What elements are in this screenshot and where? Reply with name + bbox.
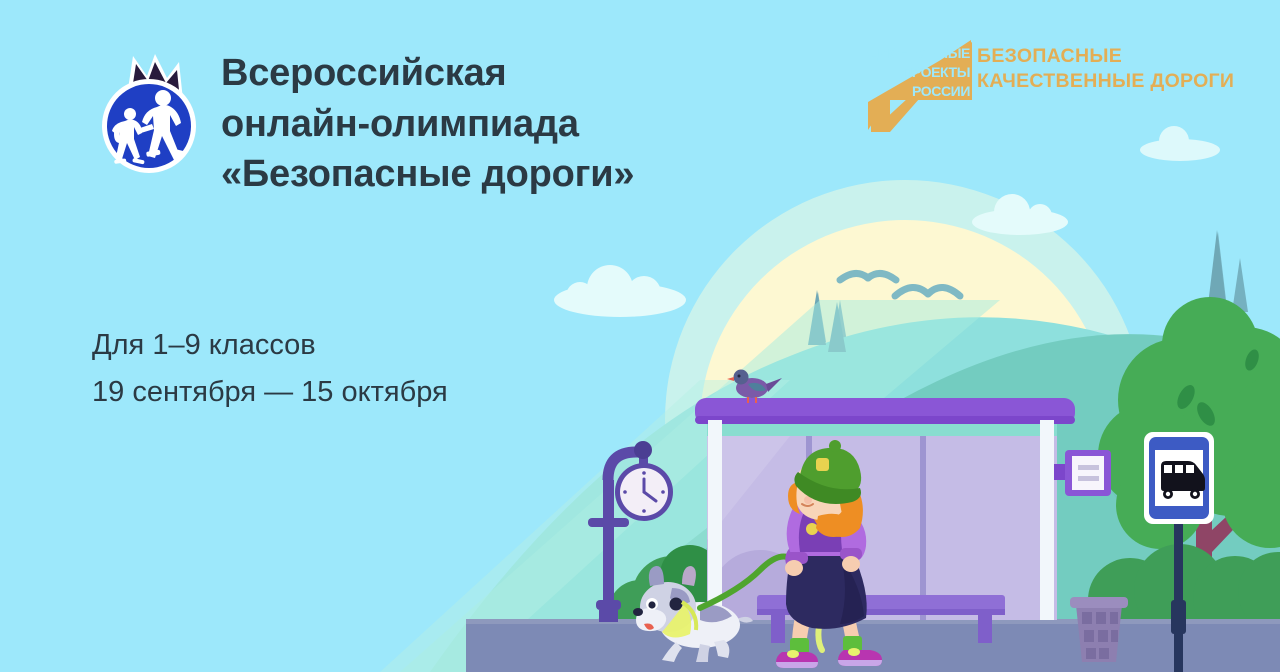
clock-finial xyxy=(634,441,652,459)
clock-pole-base xyxy=(599,610,618,622)
girl-hat-pom xyxy=(829,440,841,452)
event-details: Для 1–9 классов 19 сентября — 15 октября xyxy=(92,322,448,416)
girl-hand-front xyxy=(842,556,860,572)
girl-button xyxy=(806,523,818,535)
project-name: БЕЗОПАСНЫЕ КАЧЕСТВЕННЫЕ ДОРОГИ xyxy=(977,44,1234,94)
title-line-2: онлайн-олимпиада xyxy=(221,99,781,150)
bus-shelter xyxy=(695,398,1075,650)
dog-eye-right xyxy=(670,598,683,611)
shelter-post-left xyxy=(708,420,722,620)
dog-eye-left-pupil xyxy=(648,601,655,608)
pigeon-eye xyxy=(738,375,741,378)
promo-banner: Всероссийская онлайн-олимпиада «Безопасн… xyxy=(0,0,1280,672)
info-board-line-2 xyxy=(1078,476,1099,481)
glass-mullion-2 xyxy=(920,436,926,620)
np-flag-line-3: РОССИИ xyxy=(912,83,970,99)
trash-bin-rim xyxy=(1070,597,1128,608)
grades-line: Для 1–9 классов xyxy=(92,322,448,369)
bench-leg-right xyxy=(978,615,992,643)
dog-nose xyxy=(633,608,643,616)
page-title: Всероссийская онлайн-олимпиада «Безопасн… xyxy=(221,48,781,200)
dates-line: 19 сентября — 15 октября xyxy=(92,369,448,416)
girl-hand-back xyxy=(785,560,803,576)
info-board-panel xyxy=(1072,456,1104,490)
np-flag-line-2: ПРОЕКТЫ xyxy=(902,64,970,80)
sign-pole xyxy=(1174,520,1183,672)
pigeon-head xyxy=(734,370,749,385)
shelter-post-right xyxy=(1040,420,1054,620)
shelter-glass-top xyxy=(707,422,1057,436)
girl-hat-patch xyxy=(816,458,829,471)
clock-pole-collar xyxy=(588,518,629,527)
shelter-roof-shade xyxy=(695,416,1075,424)
info-board-line-1 xyxy=(1078,465,1099,470)
title-line-1: Всероссийская xyxy=(221,48,781,99)
clock-pole xyxy=(603,480,614,620)
project-name-line-1: БЕЗОПАСНЫЕ xyxy=(977,44,1234,69)
bench-leg-left xyxy=(771,615,785,643)
pedestrian-crossing-badge-icon xyxy=(97,52,201,176)
sign-pole-joint xyxy=(1171,600,1186,634)
title-line-3: «Безопасные дороги» xyxy=(221,149,781,200)
project-name-line-2: КАЧЕСТВЕННЫЕ ДОРОГИ xyxy=(977,69,1234,94)
np-flag-line-1: НАЦИОНАЛЬНЫЕ xyxy=(866,45,970,61)
clock-pole-foot xyxy=(596,600,621,610)
